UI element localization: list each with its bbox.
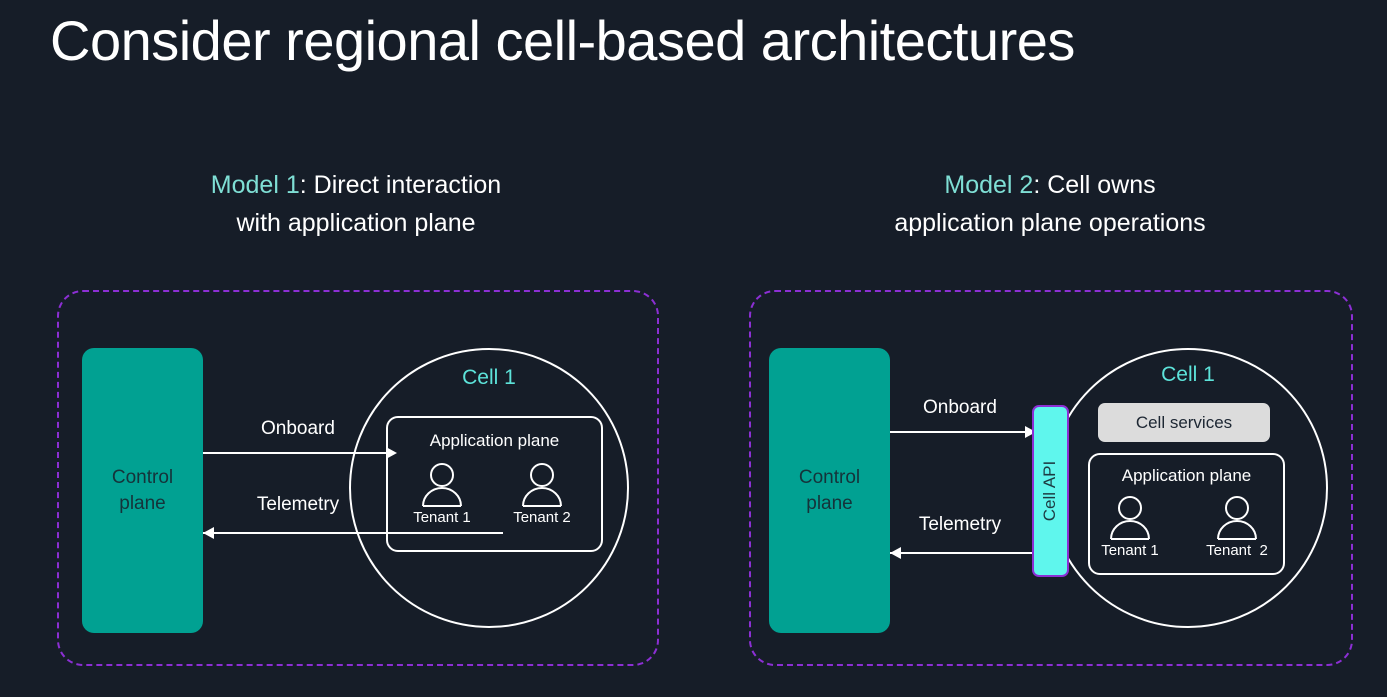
page-title: Consider regional cell-based architectur… (50, 8, 1075, 73)
control-plane-label-line-1: Control (112, 467, 173, 488)
model-2-separator: : (1033, 171, 1047, 199)
tenant-label: Tenant 1 (1082, 542, 1178, 559)
tenant-label: Tenant 2 (494, 509, 590, 526)
cell-api-label: Cell API (1041, 461, 1061, 521)
column-heading-model-1: Model 1: Direct interaction with applica… (56, 166, 656, 242)
model-2-heading-line-1: Cell owns (1047, 171, 1155, 199)
slide-canvas: Consider regional cell-based architectur… (0, 0, 1387, 697)
control-plane-label-line-2: plane (119, 493, 166, 514)
tenant-model-2-1: Tenant 1 (1082, 495, 1178, 559)
model-1-heading-line-1: Direct interaction (314, 171, 502, 199)
application-plane-title-model-1: Application plane (386, 431, 603, 451)
model-1-tag: Model 1 (211, 171, 300, 199)
cell-title-model-1: Cell 1 (349, 366, 629, 390)
user-icon (1215, 495, 1259, 540)
control-plane-label-line-2: plane (806, 493, 853, 514)
cell-api-box: Cell API (1032, 405, 1069, 577)
model-2-tag: Model 2 (944, 171, 1033, 199)
user-icon (1108, 495, 1152, 540)
tenant-label: Tenant 1 (394, 509, 490, 526)
arrow-line-telemetry-model-2 (890, 552, 1034, 554)
arrow-label-telemetry-model-2: Telemetry (885, 514, 1035, 536)
control-plane-box-model-2: Control plane (769, 348, 890, 633)
control-plane-box-model-1: Control plane (82, 348, 203, 633)
arrow-line-onboard-model-2 (890, 431, 1034, 433)
user-icon (420, 462, 464, 507)
arrow-head-telemetry-model-2 (890, 547, 901, 559)
tenant-model-1-2: Tenant 2 (494, 462, 590, 526)
arrow-head-telemetry-model-1 (203, 527, 214, 539)
application-plane-title-model-2: Application plane (1088, 466, 1285, 486)
model-2-heading-line-2: application plane operations (894, 209, 1205, 237)
tenant-model-1-1: Tenant 1 (394, 462, 490, 526)
column-heading-model-2: Model 2: Cell owns application plane ope… (750, 166, 1350, 242)
control-plane-label-line-1: Control (799, 467, 860, 488)
arrow-label-onboard-model-2: Onboard (885, 397, 1035, 419)
cell-title-model-2: Cell 1 (1048, 363, 1328, 387)
tenant-label: Tenant 2 (1189, 542, 1285, 559)
user-icon (520, 462, 564, 507)
model-1-separator: : (300, 171, 314, 199)
cell-services-box: Cell services (1098, 403, 1270, 442)
model-1-heading-line-2: with application plane (236, 209, 475, 237)
tenant-model-2-2: Tenant 2 (1189, 495, 1285, 559)
